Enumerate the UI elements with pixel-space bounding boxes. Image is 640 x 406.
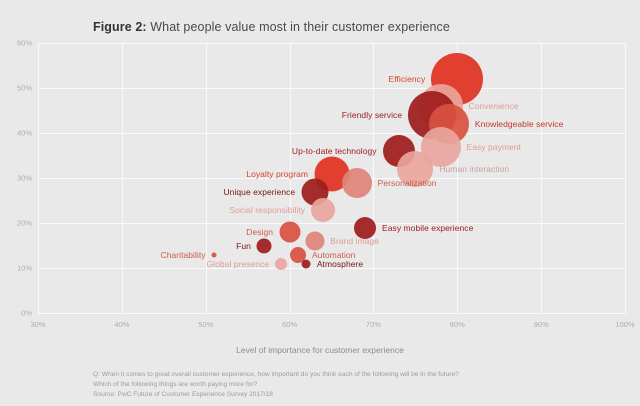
gridline-horizontal <box>38 223 625 224</box>
point-label-efficiency: Efficiency <box>389 74 426 84</box>
footnote-source: Source: PwC Future of Customer Experienc… <box>93 390 459 400</box>
bubble-atmosphere[interactable] <box>302 259 311 268</box>
point-label-fun: Fun <box>236 241 251 251</box>
y-axis-tick-label: 0% <box>2 309 32 318</box>
bubble-design[interactable] <box>279 222 300 243</box>
footnote-question-line-2: Which of the following things are worth … <box>93 380 459 390</box>
figure-number: Figure 2: <box>93 20 147 34</box>
page-title: Figure 2: What people value most in thei… <box>93 20 450 34</box>
y-axis-tick-label: 30% <box>2 174 32 183</box>
point-label-charitability: Charitability <box>161 250 206 260</box>
point-label-unique-experience: Unique experience <box>223 187 295 197</box>
point-label-human-interaction: Human interaction <box>439 164 509 174</box>
point-label-convenience: Convenience <box>469 101 519 111</box>
figure-title-text: What people value most in their customer… <box>147 20 450 34</box>
y-axis-tick-label: 50% <box>2 84 32 93</box>
bubble-social-responsibility[interactable] <box>311 198 335 222</box>
x-axis-tick-label: 40% <box>114 320 129 329</box>
point-label-global-presence: Global presence <box>207 259 270 269</box>
x-axis-ticks: 30%40%50%60%70%80%90%100% <box>38 320 625 334</box>
gridline-horizontal <box>38 88 625 89</box>
y-axis-tick-label: 20% <box>2 219 32 228</box>
y-axis-tick-label: 60% <box>2 39 32 48</box>
x-axis-tick-label: 80% <box>450 320 465 329</box>
point-label-personalization: Personalization <box>378 178 437 188</box>
bubble-charitability[interactable] <box>212 252 217 257</box>
gridline-horizontal <box>38 43 625 44</box>
y-axis-tick-label: 10% <box>2 264 32 273</box>
point-label-brand-image: Brand image <box>330 236 379 246</box>
bubble-fun[interactable] <box>257 238 272 253</box>
point-label-social-responsibility: Social responsibility <box>229 205 305 215</box>
y-axis-tick-label: 40% <box>2 129 32 138</box>
y-axis-ticks: 0%10%20%30%40%50%60% <box>0 43 32 313</box>
point-label-up-to-date-technology: Up-to-date technology <box>292 146 377 156</box>
x-axis-tick-label: 90% <box>534 320 549 329</box>
point-label-atmosphere: Atmosphere <box>317 259 363 269</box>
x-axis-tick-label: 70% <box>366 320 381 329</box>
gridline-horizontal <box>38 133 625 134</box>
bubble-global-presence[interactable] <box>275 258 287 270</box>
point-label-design: Design <box>246 227 273 237</box>
point-label-friendly-service: Friendly service <box>342 110 402 120</box>
point-label-knowledgeable-service: Knowledgeable service <box>475 119 563 129</box>
x-axis-tick-label: 50% <box>198 320 213 329</box>
x-axis-tick-label: 60% <box>282 320 297 329</box>
point-label-loyalty-program: Loyalty program <box>246 169 308 179</box>
gridline-vertical <box>625 43 626 313</box>
x-axis-tick-label: 30% <box>30 320 45 329</box>
point-label-easy-payment: Easy payment <box>467 142 521 152</box>
bubble-personalization[interactable] <box>342 168 372 198</box>
footnote-question-line-1: Q: When it comes to great overall custom… <box>93 370 459 380</box>
footnote: Q: When it comes to great overall custom… <box>93 370 459 401</box>
gridline-horizontal <box>38 313 625 314</box>
x-axis-tick-label: 100% <box>615 320 634 329</box>
point-label-easy-mobile-experience: Easy mobile experience <box>382 223 473 233</box>
chart-plot-area: EfficiencyConvenienceFriendly serviceKno… <box>38 43 625 313</box>
x-axis-label: Level of importance for customer experie… <box>0 345 640 355</box>
bubble-brand-image[interactable] <box>305 232 324 251</box>
